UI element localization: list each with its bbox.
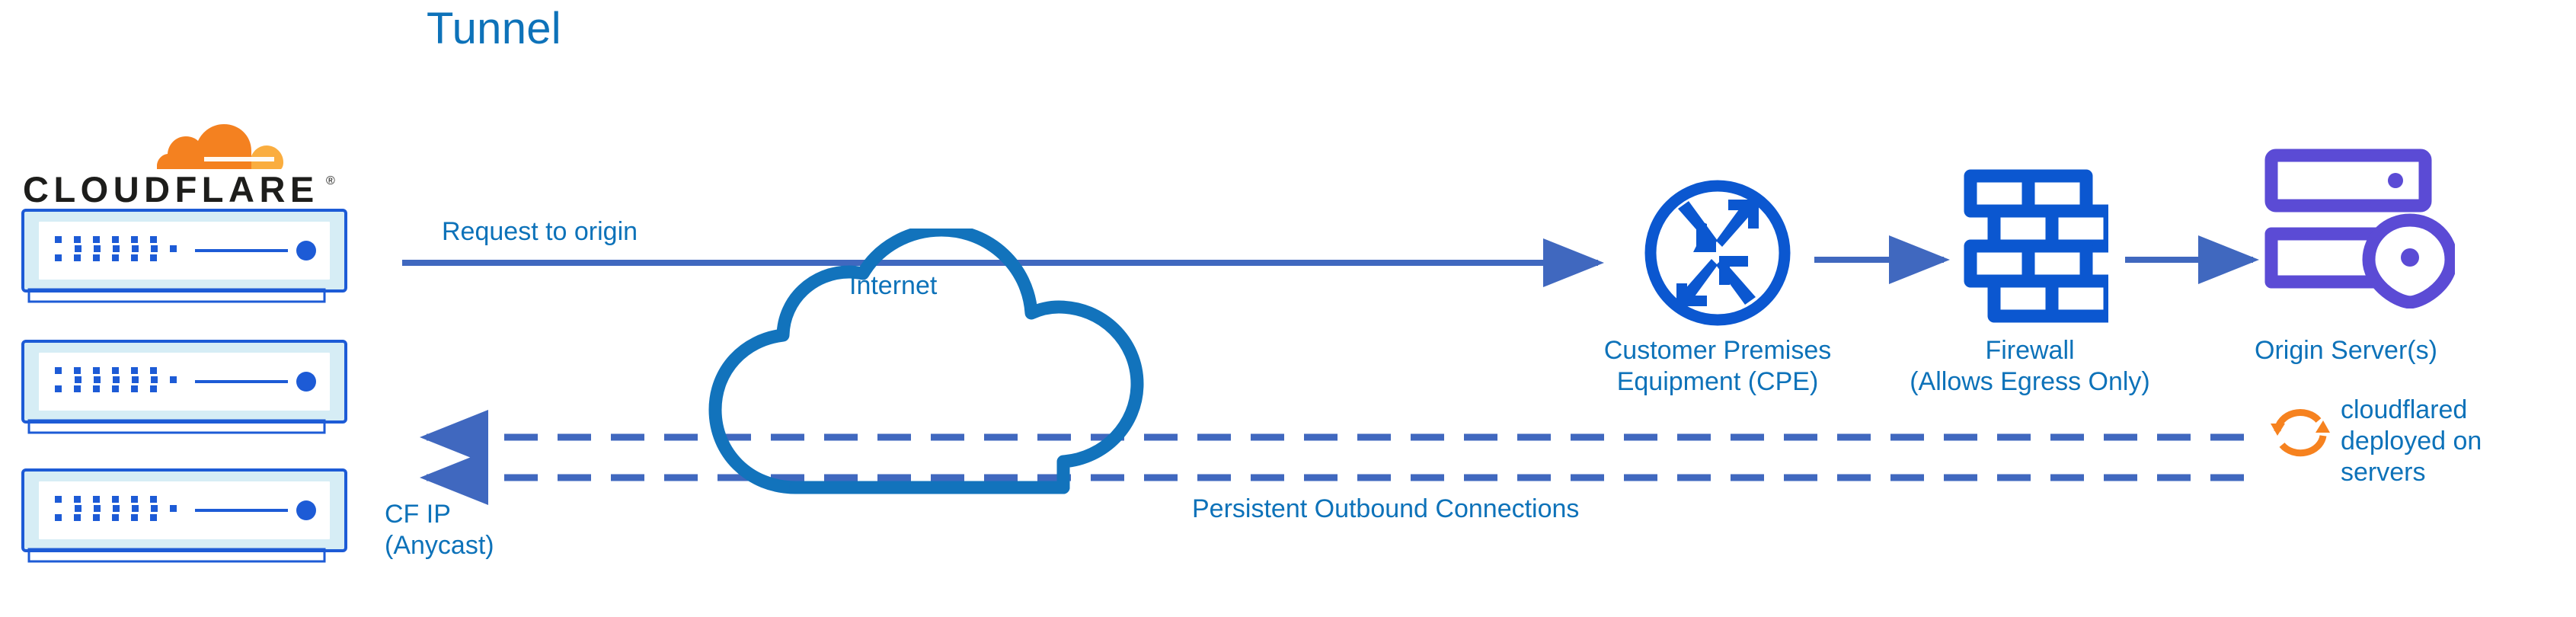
cloudflare-wordmark: CLOUDFLARE xyxy=(23,169,319,209)
server-status-led xyxy=(296,372,316,392)
server-location-pin-icon xyxy=(2264,149,2455,308)
request-to-origin-label: Request to origin xyxy=(442,216,638,248)
cloudflared-deployed-label: cloudflared deployed on servers xyxy=(2341,395,2569,488)
server-status-led xyxy=(296,241,316,261)
cloudflared-sync-icon xyxy=(2268,396,2332,460)
persistent-outbound-connections-label: Persistent Outbound Connections xyxy=(1192,494,1579,525)
firewall-label: Firewall (Allows Egress Only) xyxy=(1870,335,2190,398)
network-router-icon xyxy=(1641,177,1794,329)
server-status-led xyxy=(296,500,316,520)
cf-ip-anycast-label: CF IP (Anycast) xyxy=(385,499,494,561)
diagram-canvas: Tunnel CLOUDFLARE ® xyxy=(0,0,2576,617)
internet-label: Internet xyxy=(849,270,937,302)
origin-servers-label: Origin Server(s) xyxy=(2255,335,2574,366)
page-title: Tunnel xyxy=(427,3,561,54)
cloudflare-logo: CLOUDFLARE ® xyxy=(23,114,343,209)
cloudflare-cloud-mark xyxy=(157,124,283,169)
cpe-label: Customer Premises Equipment (CPE) xyxy=(1558,335,1878,398)
brick-wall-icon xyxy=(1964,169,2108,329)
cloudflare-edge-server-1 xyxy=(8,209,360,305)
cloudflare-edge-server-3 xyxy=(8,468,360,564)
trademark-symbol: ® xyxy=(326,174,335,187)
cloudflare-edge-server-2 xyxy=(8,340,360,436)
